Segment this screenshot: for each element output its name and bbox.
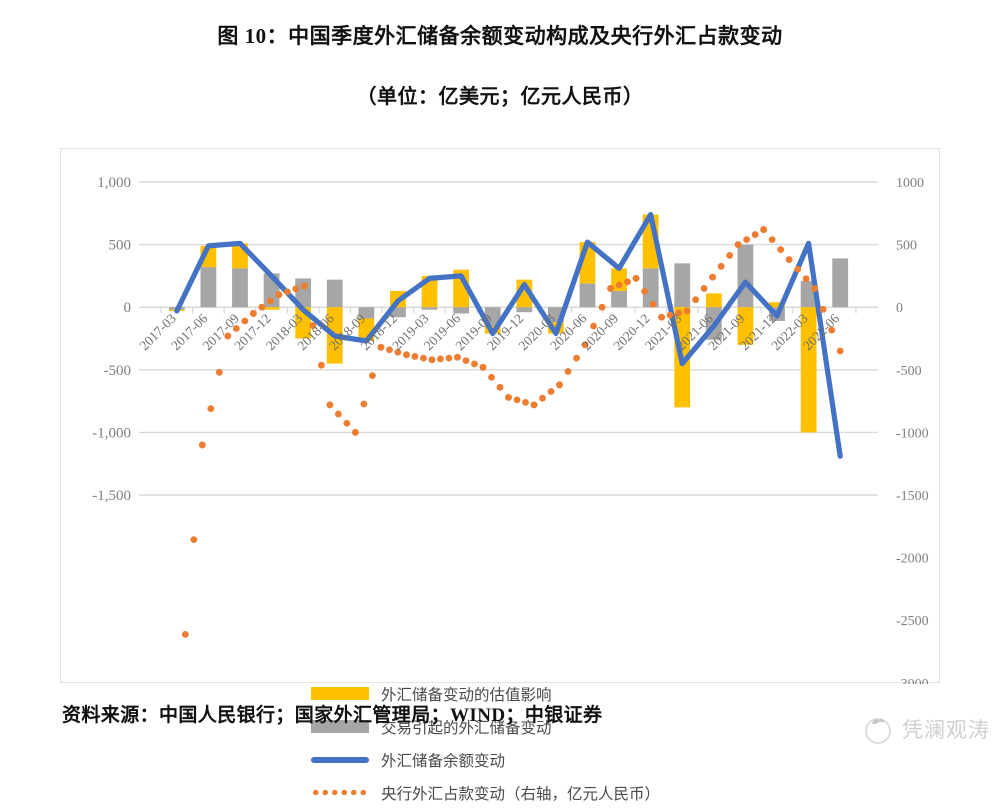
watermark-logo-icon xyxy=(861,712,895,746)
legend-swatch-valuation-bar xyxy=(311,687,369,700)
y-axis-tick-right: 0 xyxy=(896,301,903,316)
figure-page: 图 10：中国季度外汇储备余额变动构成及央行外汇占款变动 （单位：亿美元；亿元人… xyxy=(0,0,1000,775)
legend-label-reserve-change: 外汇储备余额变动 xyxy=(381,749,505,771)
bar-transaction xyxy=(611,291,627,307)
source-note: 资料来源：中国人民银行；国家外汇管理局；WIND；中银证券 xyxy=(62,700,602,727)
legend-swatch-pboc-dotted xyxy=(311,789,369,796)
y-axis-tick-left: 1,000 xyxy=(97,175,131,191)
bar-transaction xyxy=(327,280,343,308)
y-axis-tick-left: -500 xyxy=(104,363,132,379)
bar-transaction xyxy=(422,307,438,310)
figure-title: 图 10：中国季度外汇储备余额变动构成及央行外汇占款变动 xyxy=(0,22,1000,50)
legend-swatch-reserve-line xyxy=(311,757,369,763)
bar-transaction xyxy=(200,267,216,307)
bar-transaction xyxy=(580,283,596,307)
y-axis-tick-left: 500 xyxy=(109,238,132,254)
bar-transaction xyxy=(232,268,248,307)
bar-transaction xyxy=(643,268,659,307)
watermark: 凭澜观涛 xyxy=(861,712,990,746)
bar-transaction xyxy=(453,307,469,313)
y-axis-tick-right: 1000 xyxy=(896,176,924,191)
y-axis-tick-right: -3000 xyxy=(896,677,929,684)
y-axis-tick-left: 0 xyxy=(124,300,132,316)
chart-legend: 外汇储备变动的估值影响 交易引起的外汇储备变动 外汇储备余额变动 央行外汇占款变… xyxy=(311,677,831,809)
y-axis-tick-right: -1000 xyxy=(896,426,929,441)
y-axis-tick-right: -2500 xyxy=(896,614,929,629)
chart-svg: 1,0005000-500-1,000-1,50010005000-500-10… xyxy=(61,149,941,684)
y-axis-tick-right: -1500 xyxy=(896,489,929,504)
y-axis-tick-left: -1,000 xyxy=(92,425,131,441)
y-axis-tick-right: 500 xyxy=(896,239,917,254)
chart-frame: 1,0005000-500-1,000-1,50010005000-500-10… xyxy=(60,148,940,683)
chart-plot-area: 1,0005000-500-1,000-1,50010005000-500-10… xyxy=(61,149,941,684)
y-axis-tick-left: -1,500 xyxy=(92,488,131,504)
watermark-text: 凭澜观涛 xyxy=(902,714,990,744)
y-axis-tick-right: -500 xyxy=(896,364,922,379)
bar-transaction xyxy=(516,307,532,312)
y-axis-tick-right: -2000 xyxy=(896,552,929,567)
figure-subtitle: （单位：亿美元；亿元人民币） xyxy=(0,84,1000,111)
legend-item-reserve-change: 外汇储备余额变动 xyxy=(311,743,831,776)
bar-valuation xyxy=(706,293,722,307)
bar-transaction xyxy=(738,245,754,308)
bar-transaction xyxy=(832,258,848,307)
legend-item-pboc-position: 央行外汇占款变动（右轴，亿元人民币） xyxy=(311,776,831,809)
title-block: 图 10：中国季度外汇储备余额变动构成及央行外汇占款变动 （单位：亿美元；亿元人… xyxy=(0,0,1000,111)
bar-valuation xyxy=(264,307,280,310)
bar-transaction xyxy=(674,263,690,307)
legend-label-pboc-position: 央行外汇占款变动（右轴，亿元人民币） xyxy=(381,782,660,804)
